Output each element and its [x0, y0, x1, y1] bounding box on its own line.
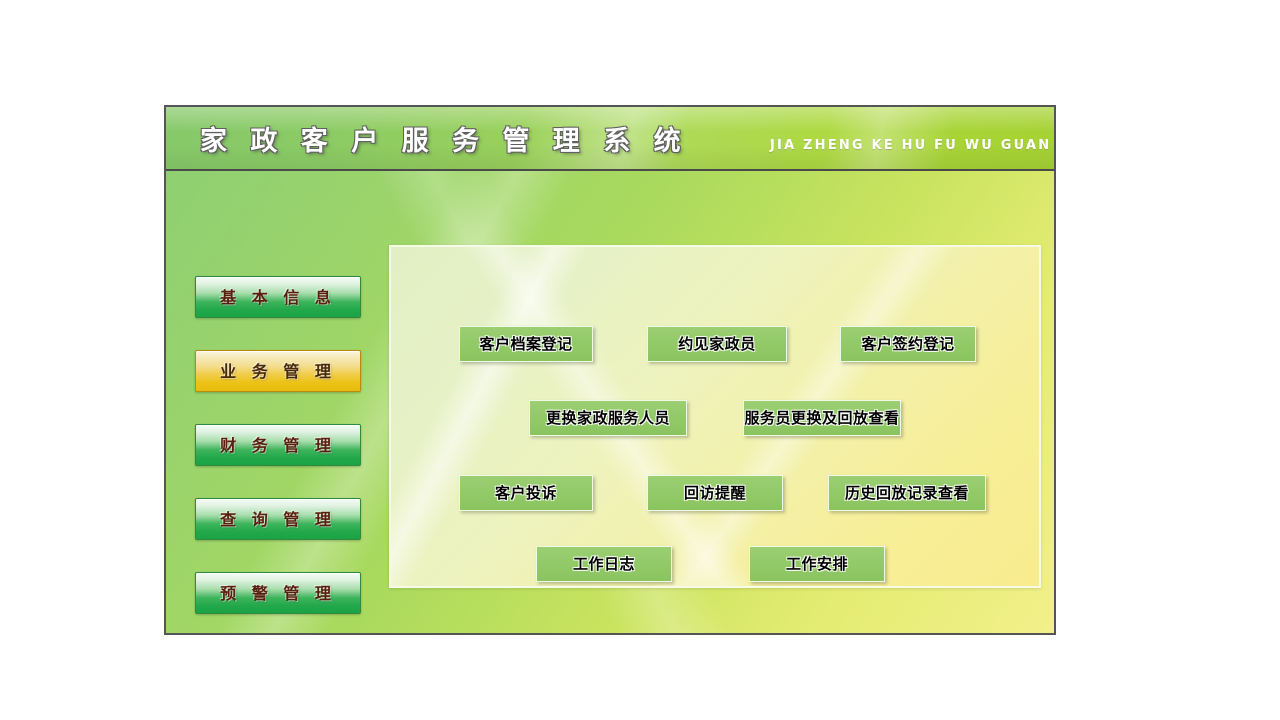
content-panel: 客户档案登记 约见家政员 客户签约登记 更换家政服务人员 服务员更换及回放查看 …	[389, 245, 1041, 588]
action-customer-contract-registration[interactable]: 客户签约登记	[840, 326, 976, 362]
action-customer-complaint[interactable]: 客户投诉	[459, 475, 593, 511]
title-bar: 家 政 客 户 服 务 管 理 系 统 JIA ZHENG KE HU FU W…	[166, 107, 1054, 171]
sidebar-item-finance-management[interactable]: 财 务 管 理	[195, 424, 361, 466]
action-replace-service-staff[interactable]: 更换家政服务人员	[529, 400, 687, 436]
action-customer-archive-registration[interactable]: 客户档案登记	[459, 326, 593, 362]
sidebar-item-business-management[interactable]: 业 务 管 理	[195, 350, 361, 392]
action-history-playback-records[interactable]: 历史回放记录查看	[828, 475, 986, 511]
button-row-1: 客户档案登记 约见家政员 客户签约登记	[391, 326, 1039, 362]
page-subtitle-reflection: JIA ZHENG KE HU FU WU GUAN LI XI TONG	[770, 139, 1054, 154]
action-followup-reminder[interactable]: 回访提醒	[647, 475, 783, 511]
button-row-4: 工作日志 工作安排	[391, 546, 1039, 582]
window-body: 基 本 信 息 业 务 管 理 财 务 管 理 查 询 管 理 预 警 管 理 …	[166, 171, 1054, 633]
action-staff-replacement-playback[interactable]: 服务员更换及回放查看	[743, 400, 901, 436]
page-title: 家 政 客 户 服 务 管 理 系 统	[200, 119, 688, 158]
action-work-schedule[interactable]: 工作安排	[749, 546, 885, 582]
button-row-3: 客户投诉 回访提醒 历史回放记录查看	[391, 475, 1039, 511]
button-row-2: 更换家政服务人员 服务员更换及回放查看	[391, 400, 1039, 436]
action-meet-housekeeper[interactable]: 约见家政员	[647, 326, 787, 362]
sidebar-item-query-management[interactable]: 查 询 管 理	[195, 498, 361, 540]
sidebar-item-basic-info[interactable]: 基 本 信 息	[195, 276, 361, 318]
application-window: 家 政 客 户 服 务 管 理 系 统 JIA ZHENG KE HU FU W…	[164, 105, 1056, 635]
sidebar-item-alert-management[interactable]: 预 警 管 理	[195, 572, 361, 614]
action-work-log[interactable]: 工作日志	[536, 546, 672, 582]
page-subtitle-group: JIA ZHENG KE HU FU WU GUAN LI XI TONG JI…	[770, 138, 1054, 169]
navigation-sidebar: 基 本 信 息 业 务 管 理 财 务 管 理 查 询 管 理 预 警 管 理	[195, 276, 361, 633]
